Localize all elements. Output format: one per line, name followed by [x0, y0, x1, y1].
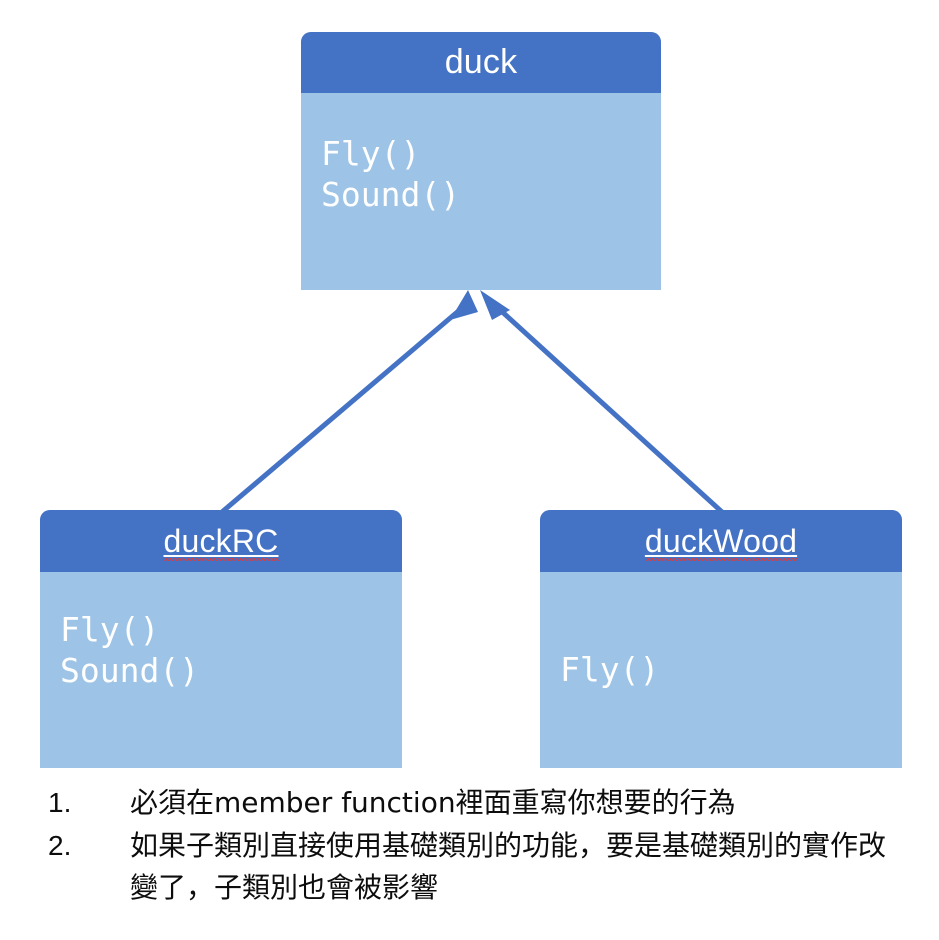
class-box-duck[interactable]: duck Fly() Sound() [301, 32, 661, 290]
notes-list: 1. 必須在member function裡面重寫你想要的行為 2. 如果子類別… [48, 782, 908, 910]
class-box-duckrc[interactable]: duckRC Fly() Sound() [40, 510, 402, 768]
class-header-duckwood: duckWood [540, 510, 902, 572]
arrowhead-duckwood [480, 290, 510, 320]
note-text-1: 必須在member function裡面重寫你想要的行為 [130, 782, 908, 825]
class-header-duckrc: duckRC [40, 510, 402, 572]
connector-duckrc-to-duck [222, 290, 478, 512]
slide-canvas: duck Fly() Sound() duckRC Fly() Sound() … [0, 0, 939, 940]
class-name-duck: duck [445, 43, 518, 82]
class-methods-duckwood: Fly() [540, 572, 902, 768]
class-box-duckwood[interactable]: duckWood Fly() [540, 510, 902, 768]
connector-line-duckwood [498, 308, 722, 512]
class-header-duck: duck [301, 32, 661, 93]
arrowhead-duckrc [450, 290, 478, 320]
connector-duckwood-to-duck [480, 290, 722, 512]
note-text-2: 如果子類別直接使用基礎類別的功能，要是基礎類別的實作改變了，子類別也會被影響 [130, 825, 908, 910]
note-marker-1: 1. [48, 782, 130, 825]
class-name-duckrc: duckRC [163, 523, 278, 560]
connector-line-duckrc [222, 308, 462, 512]
class-methods-duckrc: Fly() Sound() [40, 572, 402, 768]
class-methods-duck: Fly() Sound() [301, 93, 661, 290]
note-marker-2: 2. [48, 825, 130, 868]
note-item-1: 1. 必須在member function裡面重寫你想要的行為 [48, 782, 908, 825]
class-name-duckwood: duckWood [645, 523, 797, 560]
note-item-2: 2. 如果子類別直接使用基礎類別的功能，要是基礎類別的實作改變了，子類別也會被影… [48, 825, 908, 910]
